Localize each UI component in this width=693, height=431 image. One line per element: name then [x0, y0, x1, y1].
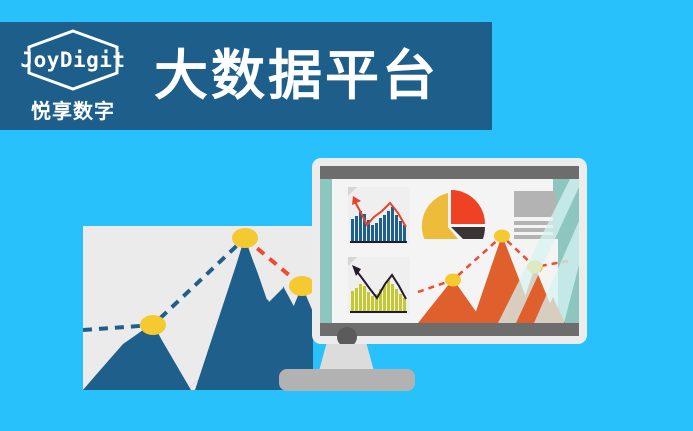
page-title: 大数据平台 — [154, 49, 439, 103]
data-marker — [140, 315, 166, 335]
monitor-stand-base — [279, 369, 415, 391]
left-chart-panel — [83, 226, 313, 390]
monitor-screen — [320, 166, 579, 336]
chart-card-blue — [348, 187, 410, 244]
brand-logo: JoyDigit 悦享数字 — [14, 28, 132, 124]
dashboard-viewport — [320, 179, 579, 323]
header-band: JoyDigit 悦享数字 大数据平台 — [0, 22, 492, 130]
data-marker — [445, 274, 461, 287]
logo-chinese-name: 悦享数字 — [31, 95, 115, 124]
screen-bezel-top — [320, 166, 579, 179]
banner-canvas: JoyDigit 悦享数字 大数据平台 — [0, 0, 693, 431]
logo-wordmark: JoyDigit — [20, 48, 125, 72]
screen-bezel-bottom — [320, 323, 579, 336]
data-marker — [232, 228, 258, 248]
data-marker — [494, 230, 510, 243]
desktop-monitor — [312, 158, 587, 344]
data-marker — [289, 276, 313, 296]
hexagon-icon: JoyDigit — [19, 29, 127, 91]
chart-card-olive — [348, 257, 410, 314]
